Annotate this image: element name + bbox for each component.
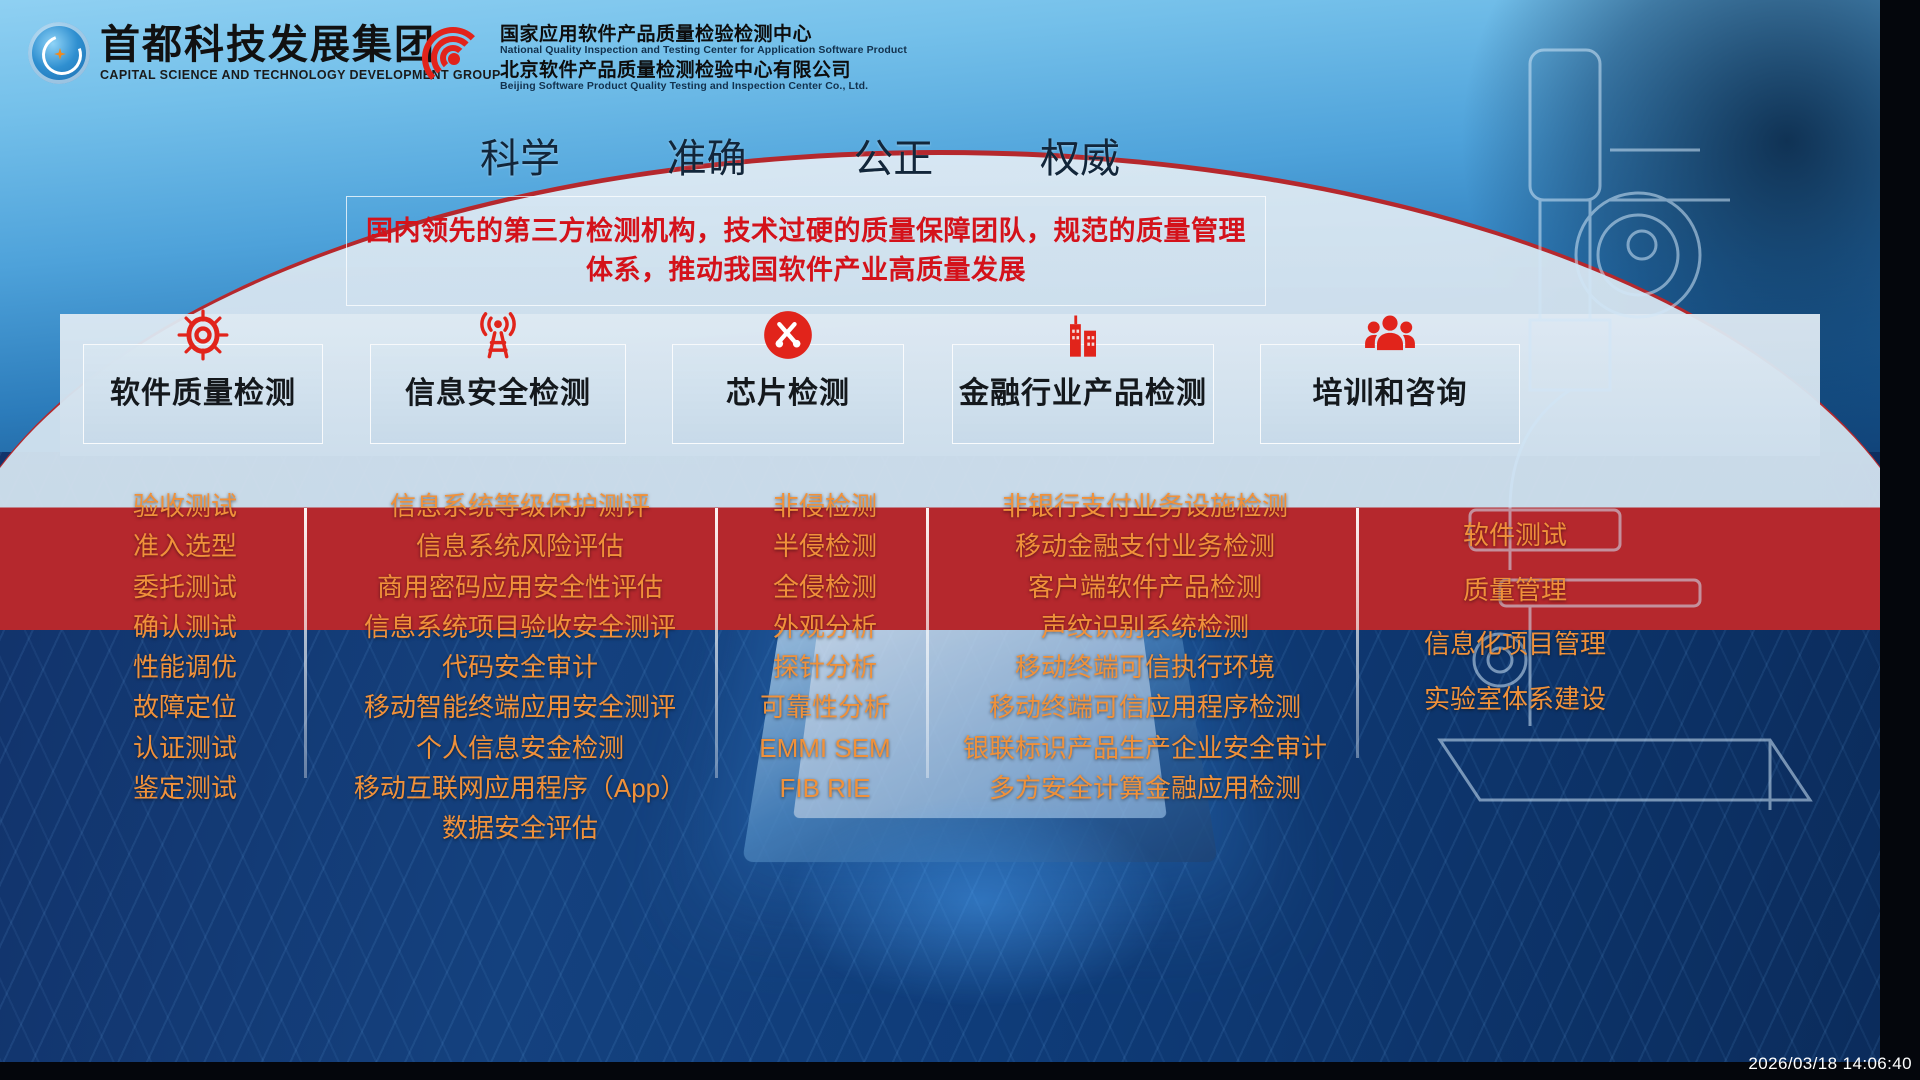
- screen-root: 首都科技发展集团 CAPITAL SCIENCE AND TECHNOLOGY …: [0, 0, 1920, 1080]
- service-column-chip-testing: 非侵检测 半侵检测 全侵检测 外观分析 探针分析 可靠性分析 EMMI SEM …: [720, 452, 930, 808]
- presentation-slide: 首都科技发展集团 CAPITAL SCIENCE AND TECHNOLOGY …: [0, 0, 1880, 1062]
- people-group-icon: [1364, 309, 1416, 361]
- category-card-information-security[interactable]: 信息安全检测: [370, 344, 626, 444]
- list-item: 探针分析: [720, 647, 930, 687]
- timestamp: 2026/03/18 14:06:40: [1748, 1054, 1912, 1074]
- list-item: 鉴定测试: [70, 768, 300, 808]
- category-card-software-quality[interactable]: 软件质量检测: [83, 344, 323, 444]
- capital-group-emblem-icon: [28, 22, 90, 84]
- list-item: EMMI SEM: [720, 728, 930, 768]
- list-item: 声纹识别系统检测: [930, 607, 1360, 647]
- list-item: 多方安全计算金融应用检测: [930, 768, 1360, 808]
- list-item: 可靠性分析: [720, 687, 930, 727]
- list-item: 移动互联网应用程序（App）: [310, 768, 730, 808]
- header: 首都科技发展集团 CAPITAL SCIENCE AND TECHNOLOGY …: [0, 0, 1880, 118]
- column-divider: [926, 508, 929, 778]
- category-card-training-consulting[interactable]: 培训和咨询: [1260, 344, 1520, 444]
- column-divider: [1356, 508, 1359, 758]
- list-item: 非银行支付业务设施检测: [930, 486, 1360, 526]
- list-item: 移动金融支付业务检测: [930, 526, 1360, 566]
- category-card-label: 培训和咨询: [1313, 376, 1468, 411]
- bank-building-icon: [1057, 309, 1109, 361]
- list-item: 外观分析: [720, 607, 930, 647]
- list-item: 个人信息安金检测: [310, 728, 730, 768]
- list-item: 移动智能终端应用安全测评: [310, 687, 730, 727]
- nqi-name-cn-line1: 国家应用软件产品质量检验检测中心: [500, 24, 907, 45]
- category-card-label: 软件质量检测: [110, 376, 296, 411]
- nqi-center-logo[interactable]: 国家应用软件产品质量检验检测中心 National Quality Inspec…: [420, 24, 907, 93]
- motto-item-2: 公正: [853, 126, 933, 184]
- list-item: 信息化项目管理: [1370, 617, 1660, 672]
- list-item: 半侵检测: [720, 526, 930, 566]
- nqi-signal-emblem-icon: [420, 25, 488, 93]
- ship-wheel-gear-icon: [177, 309, 229, 361]
- category-card-label: 芯片检测: [726, 376, 850, 411]
- list-item: 信息系统项目验收安全测评: [310, 607, 730, 647]
- list-item: 委托测试: [70, 567, 300, 607]
- nqi-name-cn-line2: 北京软件产品质量检测检验中心有限公司: [500, 60, 907, 81]
- list-item: FIB RIE: [720, 768, 930, 808]
- list-item: 移动终端可信执行环境: [930, 647, 1360, 687]
- nqi-name-en-line1: National Quality Inspection and Testing …: [500, 45, 907, 57]
- category-card-financial-product[interactable]: 金融行业产品检测: [952, 344, 1214, 444]
- service-column-training-consulting: 软件测试 质量管理 信息化项目管理 实验室体系建设: [1370, 452, 1660, 726]
- list-item: 非侵检测: [720, 486, 930, 526]
- list-item: 代码安全审计: [310, 647, 730, 687]
- category-card-label: 金融行业产品检测: [959, 377, 1207, 412]
- service-column-financial-product: 非银行支付业务设施检测 移动金融支付业务检测 客户端软件产品检测 声纹识别系统检…: [930, 452, 1360, 808]
- list-item: 性能调优: [70, 647, 300, 687]
- list-item: 软件测试: [1370, 508, 1660, 563]
- list-item: 商用密码应用安全性评估: [310, 567, 730, 607]
- category-card-label: 信息安全检测: [405, 376, 591, 411]
- list-item: 客户端软件产品检测: [930, 567, 1360, 607]
- wrench-screwdriver-icon: [762, 309, 814, 361]
- list-item: 银联标识产品生产企业安全审计: [930, 728, 1360, 768]
- motto-row: 科学 准确 公正 权威: [480, 126, 1120, 184]
- list-item: 移动终端可信应用程序检测: [930, 687, 1360, 727]
- headline-banner: 国内领先的第三方检测机构，技术过硬的质量保障团队，规范的质量管理体系，推动我国软…: [346, 196, 1266, 306]
- service-list-area: 验收测试 准入选型 委托测试 确认测试 性能调优 故障定位 认证测试 鉴定测试 …: [60, 452, 1820, 1062]
- category-card-row: 软件质量检测 信息安全检测: [60, 336, 1820, 456]
- category-card-chip-testing[interactable]: 芯片检测: [672, 344, 904, 444]
- list-item: 故障定位: [70, 687, 300, 727]
- list-item: 数据安全评估: [310, 808, 730, 848]
- list-item: 实验室体系建设: [1370, 672, 1660, 727]
- motto-item-3: 权威: [1040, 126, 1120, 184]
- list-item: 全侵检测: [720, 567, 930, 607]
- headline-text: 国内领先的第三方检测机构，技术过硬的质量保障团队，规范的质量管理体系，推动我国软…: [365, 212, 1247, 290]
- list-item: 信息系统风险评估: [310, 526, 730, 566]
- list-item: 准入选型: [70, 526, 300, 566]
- motto-item-1: 准确: [667, 126, 747, 184]
- signal-tower-icon: [472, 309, 524, 361]
- list-item: 确认测试: [70, 607, 300, 647]
- list-item: 认证测试: [70, 728, 300, 768]
- list-item: 验收测试: [70, 486, 300, 526]
- service-column-software-quality: 验收测试 准入选型 委托测试 确认测试 性能调优 故障定位 认证测试 鉴定测试: [70, 452, 300, 808]
- column-divider: [304, 508, 307, 778]
- column-divider: [715, 508, 718, 778]
- nqi-name-en-line2: Beijing Software Product Quality Testing…: [500, 81, 907, 93]
- list-item: 质量管理: [1370, 563, 1660, 618]
- service-column-information-security: 信息系统等级保护测评 信息系统风险评估 商用密码应用安全性评估 信息系统项目验收…: [310, 452, 730, 849]
- motto-item-0: 科学: [480, 126, 560, 184]
- list-item: 信息系统等级保护测评: [310, 486, 730, 526]
